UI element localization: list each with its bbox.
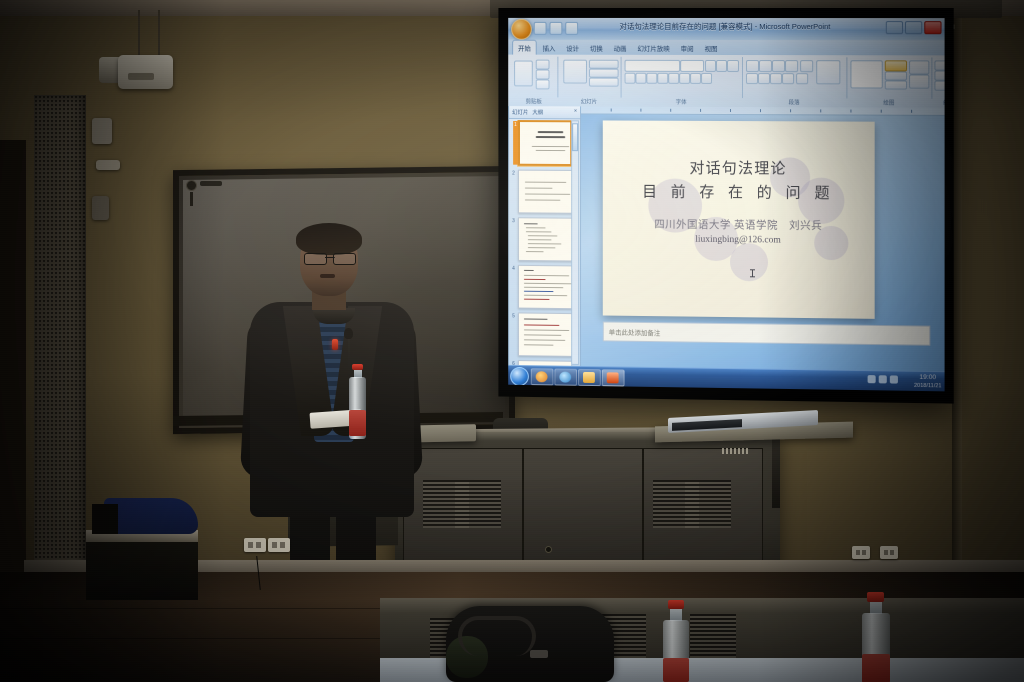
lecture-hall-photo: MITSUBISHI 对话句法理论目前存在的问题 [兼容模式] - Micros… — [0, 0, 1024, 682]
ambient-shading — [0, 0, 1024, 682]
